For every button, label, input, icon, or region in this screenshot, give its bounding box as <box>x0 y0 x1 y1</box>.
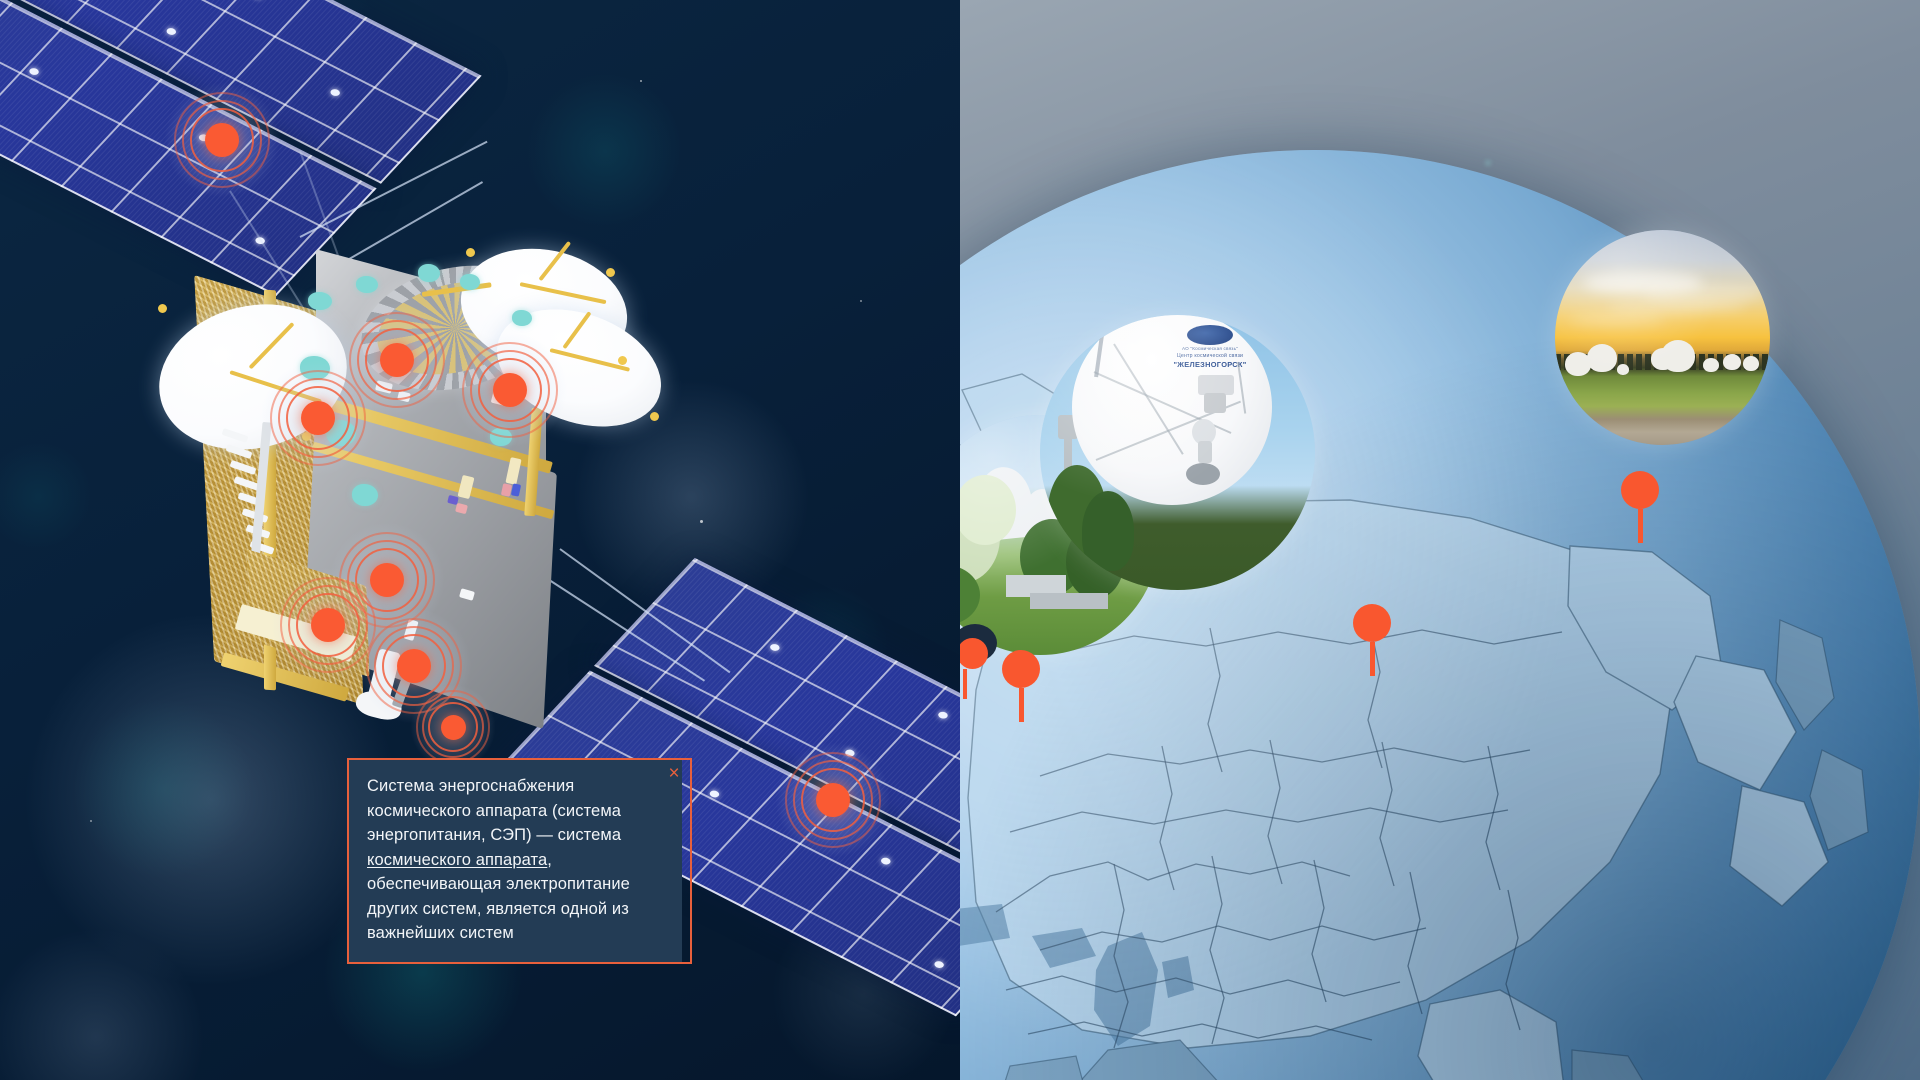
star <box>640 80 642 82</box>
hotspot-core <box>380 343 414 377</box>
thruster-nozzle <box>352 484 378 506</box>
dish-feed-point <box>466 248 475 257</box>
thruster-nozzle <box>308 292 332 310</box>
pin-head <box>1621 471 1659 509</box>
hotspot-solar-array-lower[interactable] <box>775 742 891 858</box>
close-icon[interactable]: × <box>664 764 684 784</box>
pin-station-west-2[interactable] <box>1002 650 1040 722</box>
dish-feed-point <box>650 412 659 421</box>
thruster-nozzle <box>512 310 532 326</box>
hotspot-core <box>205 123 239 157</box>
hotspot-antenna-top-left[interactable] <box>339 302 455 418</box>
pin-station-east[interactable] <box>1621 471 1659 543</box>
dish-feed-point <box>618 356 627 365</box>
ground-stations-globe[interactable]: АО "Космическая связь" Центр космической… <box>960 0 1920 1080</box>
app-stage: Система энергоснабжения космического апп… <box>0 0 1920 1080</box>
star <box>860 300 862 302</box>
pin-stem <box>1370 642 1375 676</box>
tooltip-text-before: Система энергоснабжения космического апп… <box>367 777 621 844</box>
hotspot-core <box>301 401 335 435</box>
thruster-nozzle <box>460 274 480 290</box>
pin-stem <box>1638 509 1643 543</box>
dish-feed-point <box>606 268 615 277</box>
pin-head <box>960 638 988 669</box>
thruster-nozzle <box>418 264 440 282</box>
pin-station-center[interactable] <box>1353 604 1391 676</box>
info-tooltip-text: Система энергоснабжения космического апп… <box>367 774 664 946</box>
pin-head <box>1002 650 1040 688</box>
pin-stem <box>1019 688 1024 722</box>
bubble-gloss <box>1555 230 1770 445</box>
hotspot-core <box>493 373 527 407</box>
hotspot-solar-array-upper[interactable] <box>164 82 280 198</box>
info-tooltip-body: Система энергоснабжения космического апп… <box>349 760 682 962</box>
hotspot-core <box>311 608 345 642</box>
tooltip-inline-link[interactable]: космического аппарата <box>367 851 547 869</box>
pin-head <box>1353 604 1391 642</box>
bubble-zheleznogorsk[interactable]: АО "Космическая связь" Центр космической… <box>1040 315 1315 590</box>
thruster-nozzle <box>356 276 378 293</box>
dish-feed-point <box>158 304 167 313</box>
pin-stem <box>963 669 967 699</box>
satellite-3d-view[interactable]: Система энергоснабжения космического апп… <box>0 0 960 1080</box>
star <box>90 820 92 822</box>
hotspot-core <box>816 783 850 817</box>
hotspot-core <box>441 715 466 740</box>
pin-station-west[interactable] <box>960 638 988 699</box>
hotspot-main-reflector[interactable] <box>452 332 568 448</box>
info-tooltip[interactable]: Система энергоснабжения космического апп… <box>347 758 692 964</box>
hotspot-core <box>397 649 431 683</box>
bubble-sunset-station[interactable] <box>1555 230 1770 445</box>
bubble-gloss <box>1040 315 1315 590</box>
